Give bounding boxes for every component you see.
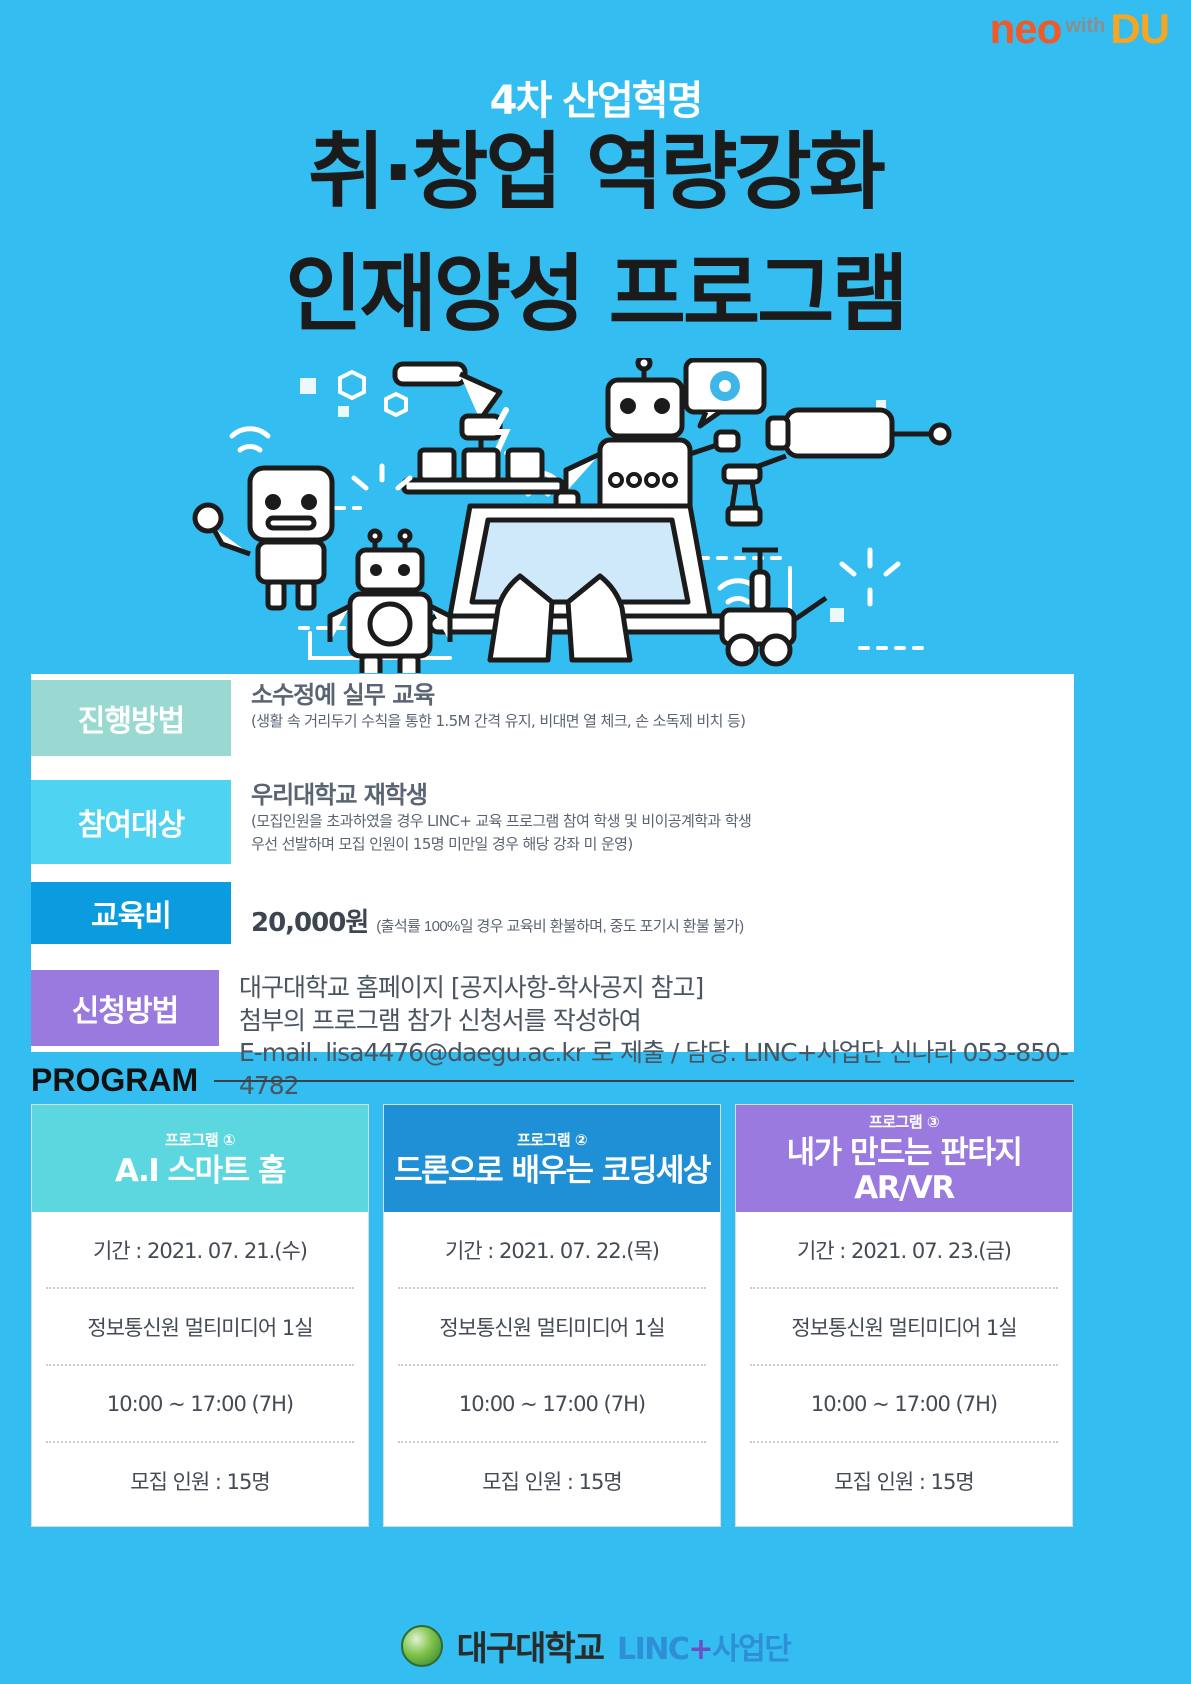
program-card-2-header: 프로그램 ② 드론으로 배우는 코딩세상: [384, 1105, 720, 1212]
brand-logo: neo with DU: [990, 8, 1169, 50]
apply-line-1: 대구대학교 홈페이지 [공지사항-학사공지 참고]: [239, 972, 1074, 1005]
program-card-1-capacity: 모집 인원 : 15명: [46, 1443, 354, 1518]
brand-du-text: DU: [1110, 8, 1169, 50]
apply-line-2: 첨부의 프로그램 참가 신청서를 작성하여: [239, 1005, 1074, 1038]
program-card-3-header: 프로그램 ③ 내가 만드는 판타지 AR/VR: [736, 1105, 1072, 1212]
program-card-2-number: 프로그램 ②: [517, 1129, 587, 1150]
program-card-2-time: 10:00 ~ 17:00 (7H): [398, 1366, 706, 1443]
program-card-list: 프로그램 ① A.I 스마트 홈 기간 : 2021. 07. 21.(수) 정…: [31, 1104, 1074, 1527]
info-row-target-label: 참여대상: [31, 780, 231, 864]
brand-with-text: with: [1065, 16, 1105, 36]
program-card-3-number: 프로그램 ③: [869, 1111, 939, 1132]
program-card-2-rows: 기간 : 2021. 07. 22.(목) 정보통신원 멀티미디어 1실 10:…: [384, 1212, 720, 1526]
info-row-target-note-2: 우선 선발하며 모집 인원이 15명 미만일 경우 해당 강좌 미 운영): [251, 833, 751, 856]
university-seal-icon: [401, 1625, 443, 1667]
info-row-method: 진행방법 소수정예 실무 교육 (생활 속 거리두기 수칙을 통한 1.5M 간…: [31, 680, 745, 756]
linc-logo-part-a: LINC: [617, 1632, 688, 1667]
info-row-fee: 교육비 20,000원 (출석률 100%일 경우 교육비 환불하며, 중도 포…: [31, 882, 744, 944]
info-row-fee-label: 교육비: [31, 882, 231, 944]
program-card-3-time: 10:00 ~ 17:00 (7H): [750, 1366, 1058, 1443]
program-card-3[interactable]: 프로그램 ③ 내가 만드는 판타지 AR/VR 기간 : 2021. 07. 2…: [735, 1104, 1073, 1527]
robotics-illustration: [0, 358, 1191, 673]
program-card-3-capacity: 모집 인원 : 15명: [750, 1443, 1058, 1518]
program-card-1-location: 정보통신원 멀티미디어 1실: [46, 1289, 354, 1366]
info-row-method-title: 소수정예 실무 교육: [251, 680, 745, 710]
info-row-fee-amount: 20,000원: [251, 902, 368, 939]
program-card-2[interactable]: 프로그램 ② 드론으로 배우는 코딩세상 기간 : 2021. 07. 22.(…: [383, 1104, 721, 1527]
program-card-1-title: A.I 스마트 홈: [115, 1154, 285, 1189]
title-line-2: 인재양성 프로그램: [0, 250, 1191, 338]
info-row-target-title: 우리대학교 재학생: [251, 780, 751, 810]
program-card-2-capacity: 모집 인원 : 15명: [398, 1443, 706, 1518]
info-row-method-label: 진행방법: [31, 680, 231, 756]
program-card-3-title: 내가 만드는 판타지 AR/VR: [736, 1136, 1072, 1205]
program-card-2-location: 정보통신원 멀티미디어 1실: [398, 1289, 706, 1366]
program-card-3-location: 정보통신원 멀티미디어 1실: [750, 1289, 1058, 1366]
program-card-3-period: 기간 : 2021. 07. 23.(금): [750, 1212, 1058, 1289]
university-name: 대구대학교: [457, 1621, 603, 1670]
program-card-1-rows: 기간 : 2021. 07. 21.(수) 정보통신원 멀티미디어 1실 10:…: [32, 1212, 368, 1526]
info-panel: 진행방법 소수정예 실무 교육 (생활 속 거리두기 수칙을 통한 1.5M 간…: [31, 674, 1074, 1052]
program-card-1-number: 프로그램 ①: [165, 1129, 235, 1150]
program-card-1[interactable]: 프로그램 ① A.I 스마트 홈 기간 : 2021. 07. 21.(수) 정…: [31, 1104, 369, 1527]
program-card-2-title: 드론으로 배우는 코딩세상: [394, 1154, 710, 1189]
linc-logo-part-c: 사업단: [712, 1632, 790, 1667]
info-row-apply-label: 신청방법: [31, 970, 219, 1046]
title-line-1: 취·창업 역량강화: [0, 128, 1191, 216]
info-row-target: 참여대상 우리대학교 재학생 (모집인원을 초과하였을 경우 LINC+ 교육 …: [31, 780, 751, 864]
linc-logo: LINC+사업단: [617, 1624, 790, 1668]
info-row-fee-note: (출석률 100%일 경우 교육비 환불하며, 중도 포기시 환불 불가): [376, 915, 743, 936]
title-eyebrow: 4차 산업혁명: [0, 68, 1191, 126]
program-heading-rule: [214, 1080, 1074, 1082]
info-row-method-note: (생활 속 거리두기 수칙을 통한 1.5M 간격 유지, 비대면 열 체크, …: [251, 710, 745, 733]
info-row-target-note-1: (모집인원을 초과하였을 경우 LINC+ 교육 프로그램 참여 학생 및 비이…: [251, 810, 751, 833]
program-card-1-time: 10:00 ~ 17:00 (7H): [46, 1366, 354, 1443]
program-section-header: PROGRAM: [31, 1062, 1074, 1099]
linc-logo-part-b: +: [688, 1632, 712, 1667]
program-card-3-rows: 기간 : 2021. 07. 23.(금) 정보통신원 멀티미디어 1실 10:…: [736, 1212, 1072, 1526]
program-card-1-header: 프로그램 ① A.I 스마트 홈: [32, 1105, 368, 1212]
program-card-2-period: 기간 : 2021. 07. 22.(목): [398, 1212, 706, 1289]
program-card-1-period: 기간 : 2021. 07. 21.(수): [46, 1212, 354, 1289]
info-row-apply: 신청방법 대구대학교 홈페이지 [공지사항-학사공지 참고] 첨부의 프로그램 …: [31, 970, 1074, 1046]
brand-neo-text: neo: [990, 8, 1062, 50]
program-heading-label: PROGRAM: [31, 1062, 198, 1099]
footer-logos: 대구대학교 LINC+사업단: [0, 1621, 1191, 1670]
